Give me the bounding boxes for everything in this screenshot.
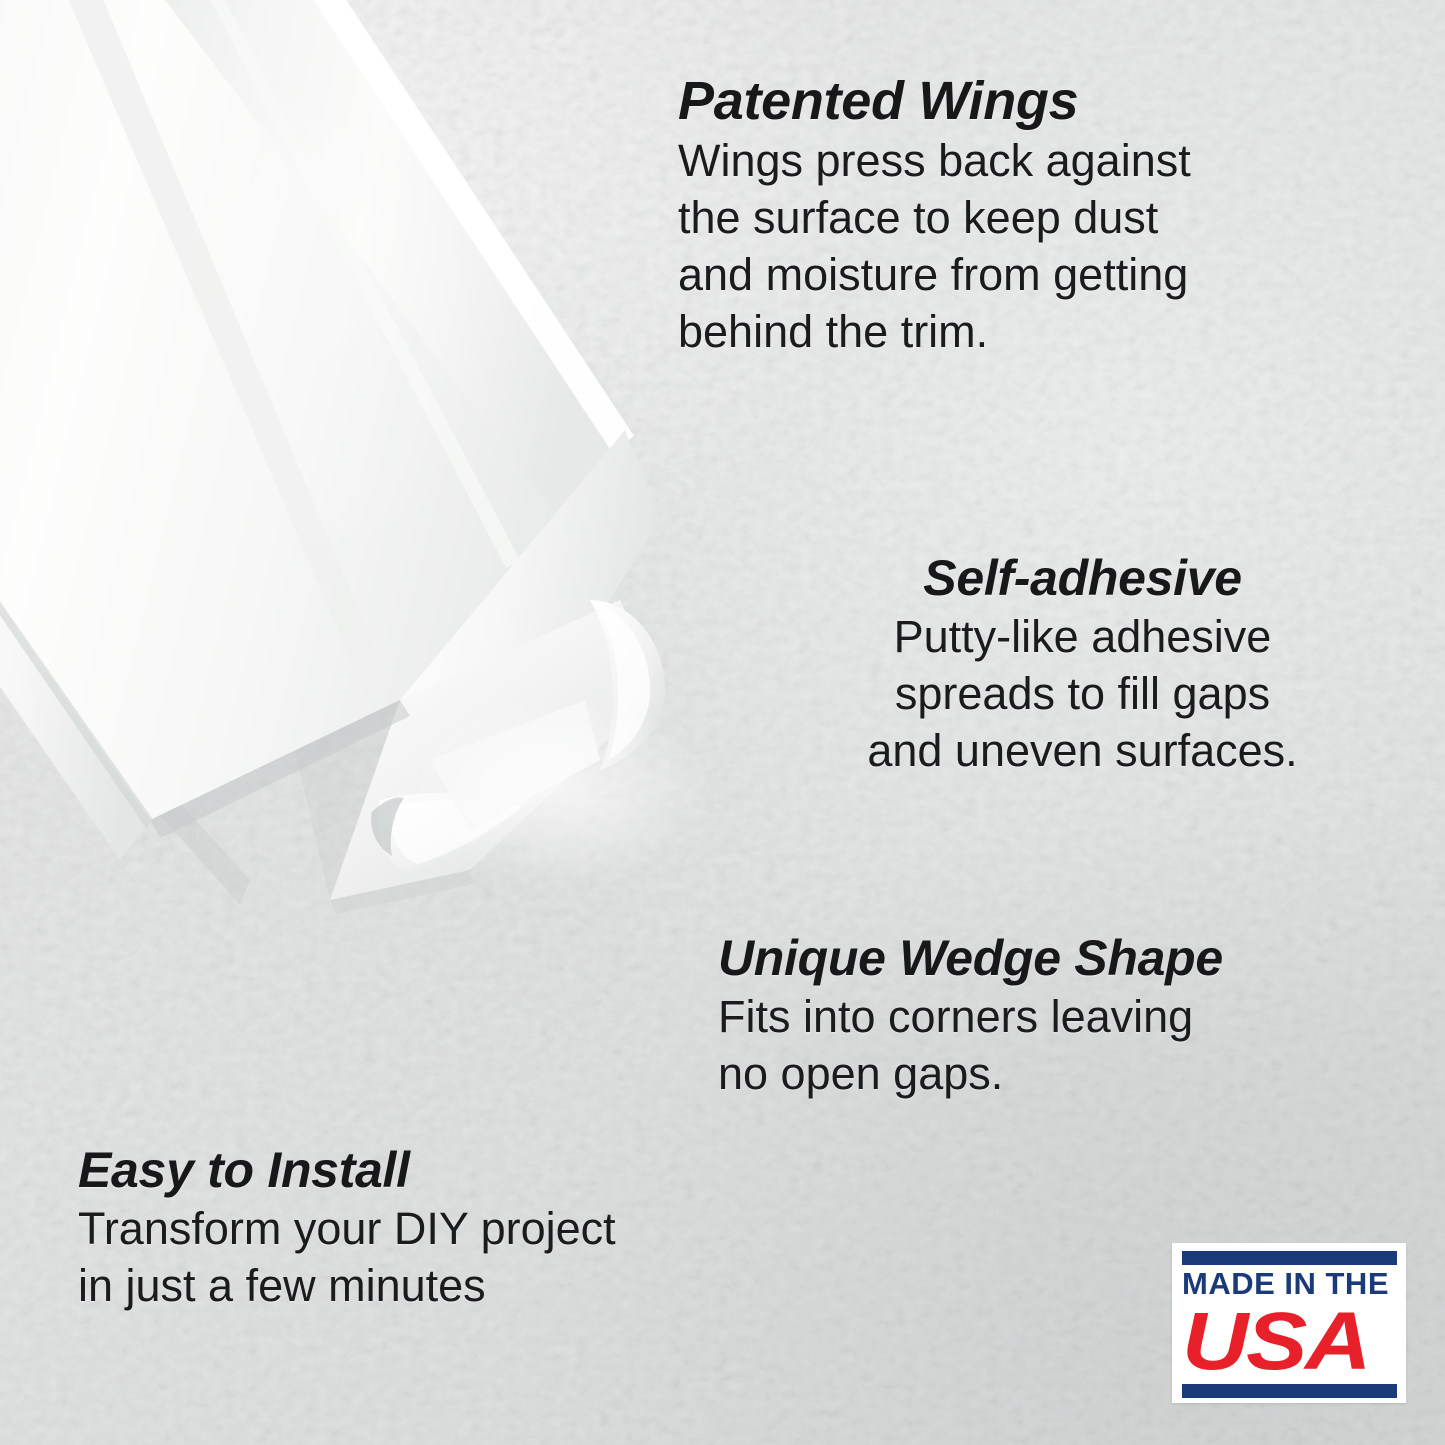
badge-top-bar bbox=[1182, 1251, 1397, 1265]
feature-block-easy-to-install: Easy to Install Transform your DIY proje… bbox=[78, 1140, 616, 1314]
feature-heading-self-adhesive: Self-adhesive bbox=[805, 548, 1360, 608]
infographic-page: Patented Wings Wings press back against … bbox=[0, 0, 1445, 1445]
feature-body-line: no open gaps. bbox=[718, 1045, 1223, 1102]
feature-body-line: Fits into corners leaving bbox=[718, 988, 1223, 1045]
feature-heading-unique-wedge-shape: Unique Wedge Shape bbox=[718, 928, 1223, 988]
feature-body-line: and uneven surfaces. bbox=[805, 722, 1360, 779]
feature-body-line: spreads to fill gaps bbox=[805, 665, 1360, 722]
feature-body-line: Putty-like adhesive bbox=[805, 608, 1360, 665]
feature-body-line: and moisture from getting bbox=[678, 246, 1191, 303]
feature-body-line: behind the trim. bbox=[678, 303, 1191, 360]
feature-body-line: in just a few minutes bbox=[78, 1257, 616, 1314]
feature-block-unique-wedge-shape: Unique Wedge Shape Fits into corners lea… bbox=[718, 928, 1223, 1102]
feature-heading-easy-to-install: Easy to Install bbox=[78, 1140, 616, 1200]
feature-block-patented-wings: Patented Wings Wings press back against … bbox=[678, 70, 1191, 360]
badge-usa-text: USA bbox=[1182, 1302, 1423, 1382]
feature-heading-patented-wings: Patented Wings bbox=[678, 70, 1191, 132]
made-in-usa-badge: MADE IN THE USA bbox=[1172, 1243, 1406, 1403]
feature-body-line: the surface to keep dust bbox=[678, 189, 1191, 246]
feature-body-line: Wings press back against bbox=[678, 132, 1191, 189]
feature-block-self-adhesive: Self-adhesive Putty-like adhesive spread… bbox=[805, 548, 1360, 779]
feature-body-line: Transform your DIY project bbox=[78, 1200, 616, 1257]
